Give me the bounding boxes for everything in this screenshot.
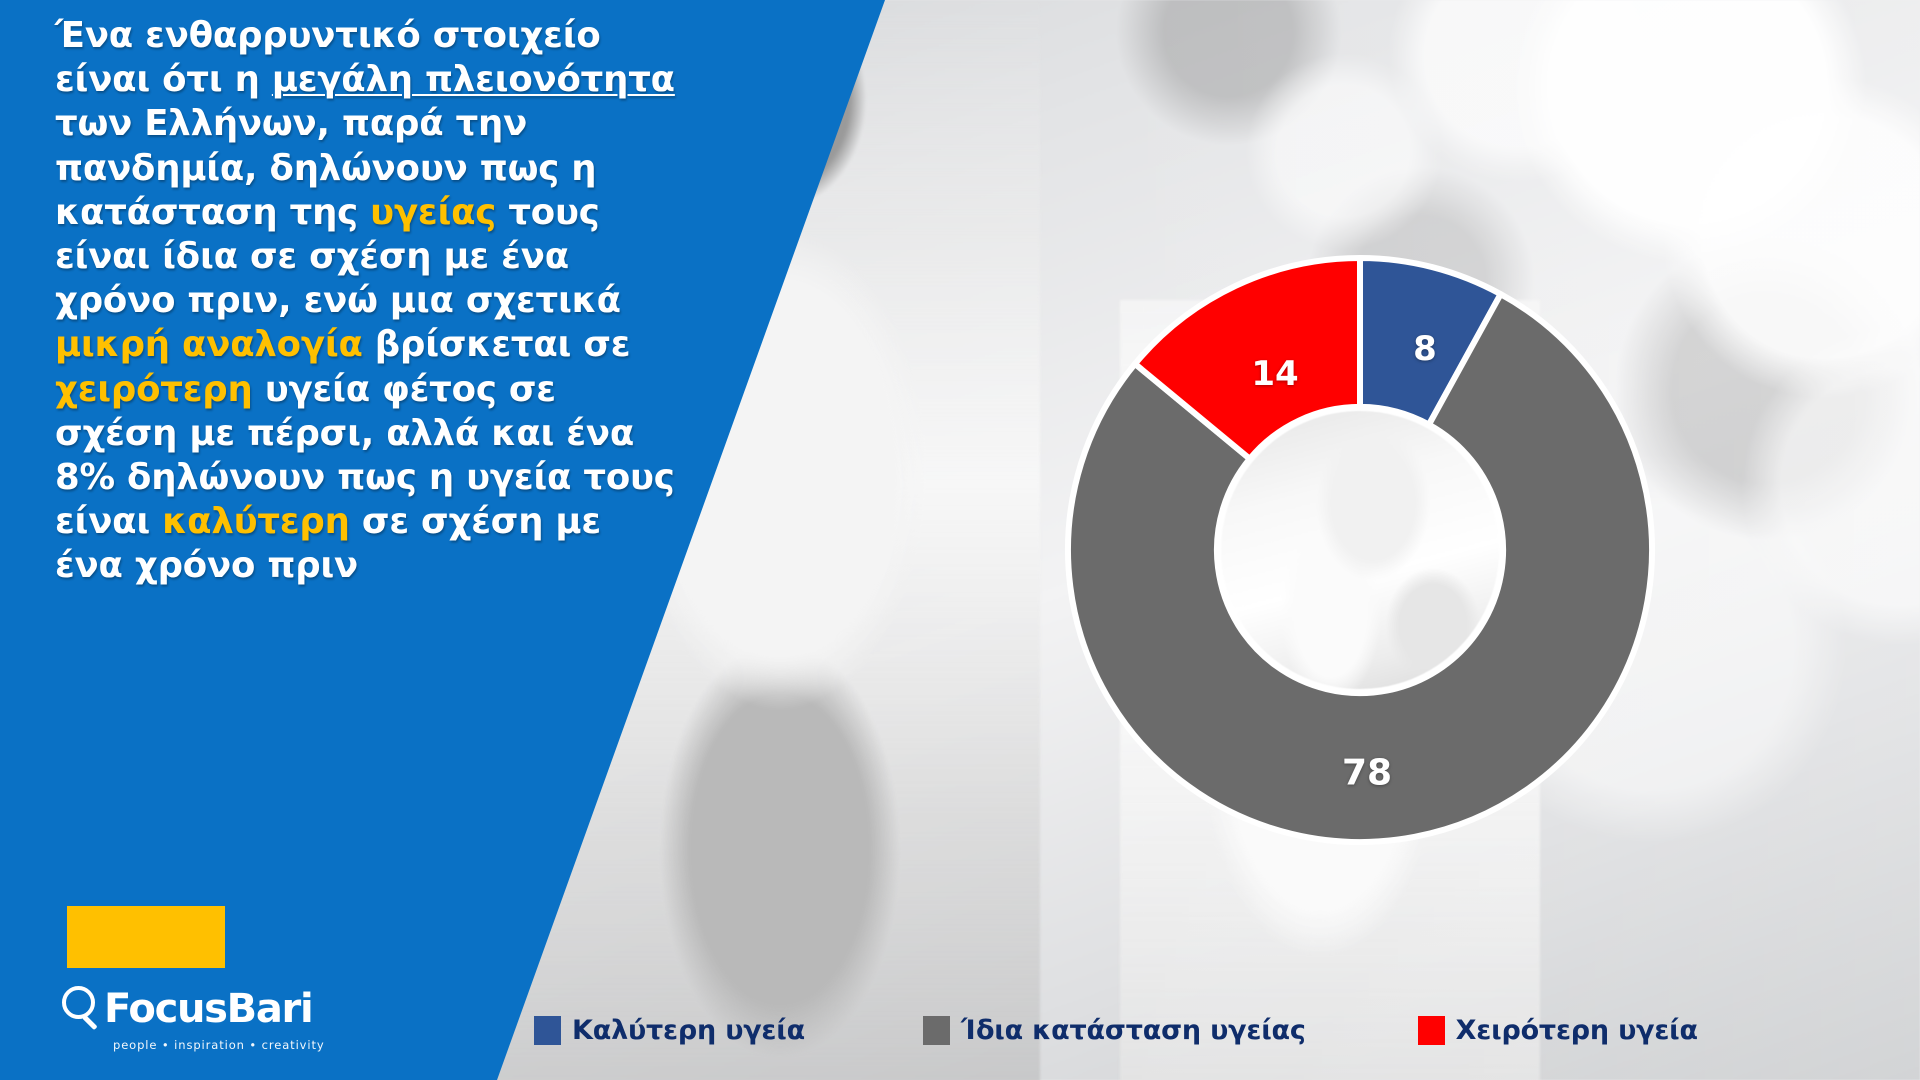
logo-tagline: people • inspiration • creativity — [113, 1038, 360, 1052]
slide-canvas: Ένα ενθαρρυντικό στοιχείο είναι ότι η με… — [0, 0, 1920, 1080]
magnifier-icon — [60, 985, 107, 1032]
magnifier-ring-icon — [62, 986, 95, 1019]
legend-label-same: Ίδια κατάσταση υγείας — [961, 1015, 1306, 1046]
slice-value-same: 78 — [1342, 753, 1392, 794]
magnifier-handle-icon — [82, 1015, 97, 1030]
headline-highlight-xeiroteri: χειρότερη — [55, 369, 253, 410]
donut-chart: 8 14 78 — [1060, 250, 1660, 850]
logo-wordmark-row: FocusBari — [60, 985, 360, 1032]
focusbari-logo: FocusBari people • inspiration • creativ… — [60, 906, 360, 1052]
headline-highlight-mikri-analogia: μικρή αναλογία — [55, 324, 363, 365]
chart-legend: Καλύτερη υγεία Ίδια κατάσταση υγείας Χει… — [534, 1005, 1854, 1055]
headline-underlined-phrase: μεγάλη πλειονότητα — [272, 59, 675, 100]
headline-highlight-kalyteri: καλύτερη — [162, 501, 350, 542]
headline-highlight-ygeias: υγείας — [370, 192, 496, 233]
logo-name: FocusBari — [104, 989, 312, 1029]
legend-swatch-worse — [1418, 1016, 1445, 1045]
legend-item-same[interactable]: Ίδια κατάσταση υγείας — [923, 1015, 1306, 1046]
donut-center-photo — [1216, 406, 1504, 694]
legend-item-better[interactable]: Καλύτερη υγεία — [534, 1015, 805, 1046]
legend-label-worse: Χειρότερη υγεία — [1456, 1015, 1698, 1046]
logo-gold-bar — [67, 906, 225, 968]
legend-label-better: Καλύτερη υγεία — [572, 1015, 805, 1046]
slice-value-worse: 14 — [1251, 354, 1298, 394]
legend-swatch-same — [923, 1016, 950, 1045]
legend-item-worse[interactable]: Χειρότερη υγεία — [1418, 1015, 1698, 1046]
headline-segment-7: βρίσκεται σε — [363, 324, 631, 365]
slice-value-better: 8 — [1413, 329, 1437, 369]
legend-swatch-better — [534, 1016, 561, 1045]
headline-paragraph: Ένα ενθαρρυντικό στοιχείο είναι ότι η με… — [55, 14, 675, 588]
